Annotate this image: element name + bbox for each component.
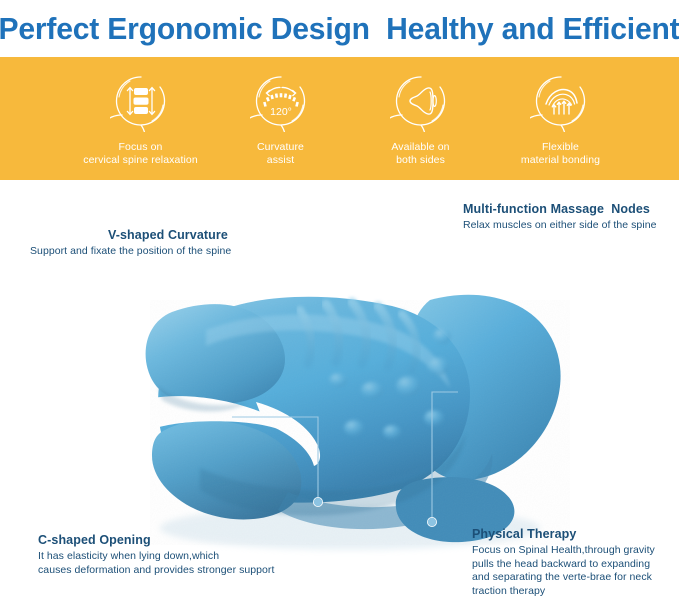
callout-v-shaped-curvature: V-shaped Curvature Support and fixate th…	[30, 228, 300, 259]
feature-banner: Focus on cervical spine relaxation	[0, 57, 679, 180]
spine-stretch-icon	[110, 70, 172, 132]
flexible-material-icon	[530, 70, 592, 132]
curvature-angle-icon: 120°	[250, 70, 312, 132]
callout-body: Relax muscles on either side of the spin…	[463, 219, 679, 233]
both-sides-pillow-icon	[390, 70, 452, 132]
callout-body: Support and fixate the position of the s…	[30, 245, 300, 259]
feature-item-flexible-material: Flexible material bonding	[491, 70, 631, 167]
feature-label: Available on both sides	[391, 141, 449, 167]
callout-title: V-shaped Curvature	[108, 228, 300, 242]
callout-title: C-shaped Opening	[38, 533, 328, 547]
callout-multi-function-massage-nodes: Multi-function Massage Nodes Relax muscl…	[463, 202, 679, 233]
feature-item-both-sides: Available on both sides	[351, 70, 491, 167]
feature-label: Flexible material bonding	[521, 141, 600, 167]
feature-list: Focus on cervical spine relaxation	[71, 57, 631, 167]
feature-item-curvature-assist: 120° Curvature assist	[211, 70, 351, 167]
callout-body: It has elasticity when lying down,which …	[38, 550, 328, 577]
callout-c-shaped-opening: C-shaped Opening It has elasticity when …	[38, 533, 328, 577]
callout-physical-therapy: Physical Therapy Focus on Spinal Health,…	[472, 527, 677, 598]
callout-title: Multi-function Massage Nodes	[463, 202, 679, 216]
feature-label: Curvature assist	[257, 141, 304, 167]
product-infographic: Perfect Ergonomic Design Healthy and Eff…	[0, 0, 679, 600]
page-title: Perfect Ergonomic Design Healthy and Eff…	[0, 11, 679, 47]
callout-body: Focus on Spinal Health,through gravity p…	[472, 544, 677, 598]
angle-value-text: 120°	[270, 106, 292, 118]
feature-label: Focus on cervical spine relaxation	[83, 141, 198, 167]
feature-item-spine-relaxation: Focus on cervical spine relaxation	[71, 70, 211, 167]
callout-title: Physical Therapy	[472, 527, 677, 541]
title-bar: Perfect Ergonomic Design Healthy and Eff…	[0, 0, 679, 57]
